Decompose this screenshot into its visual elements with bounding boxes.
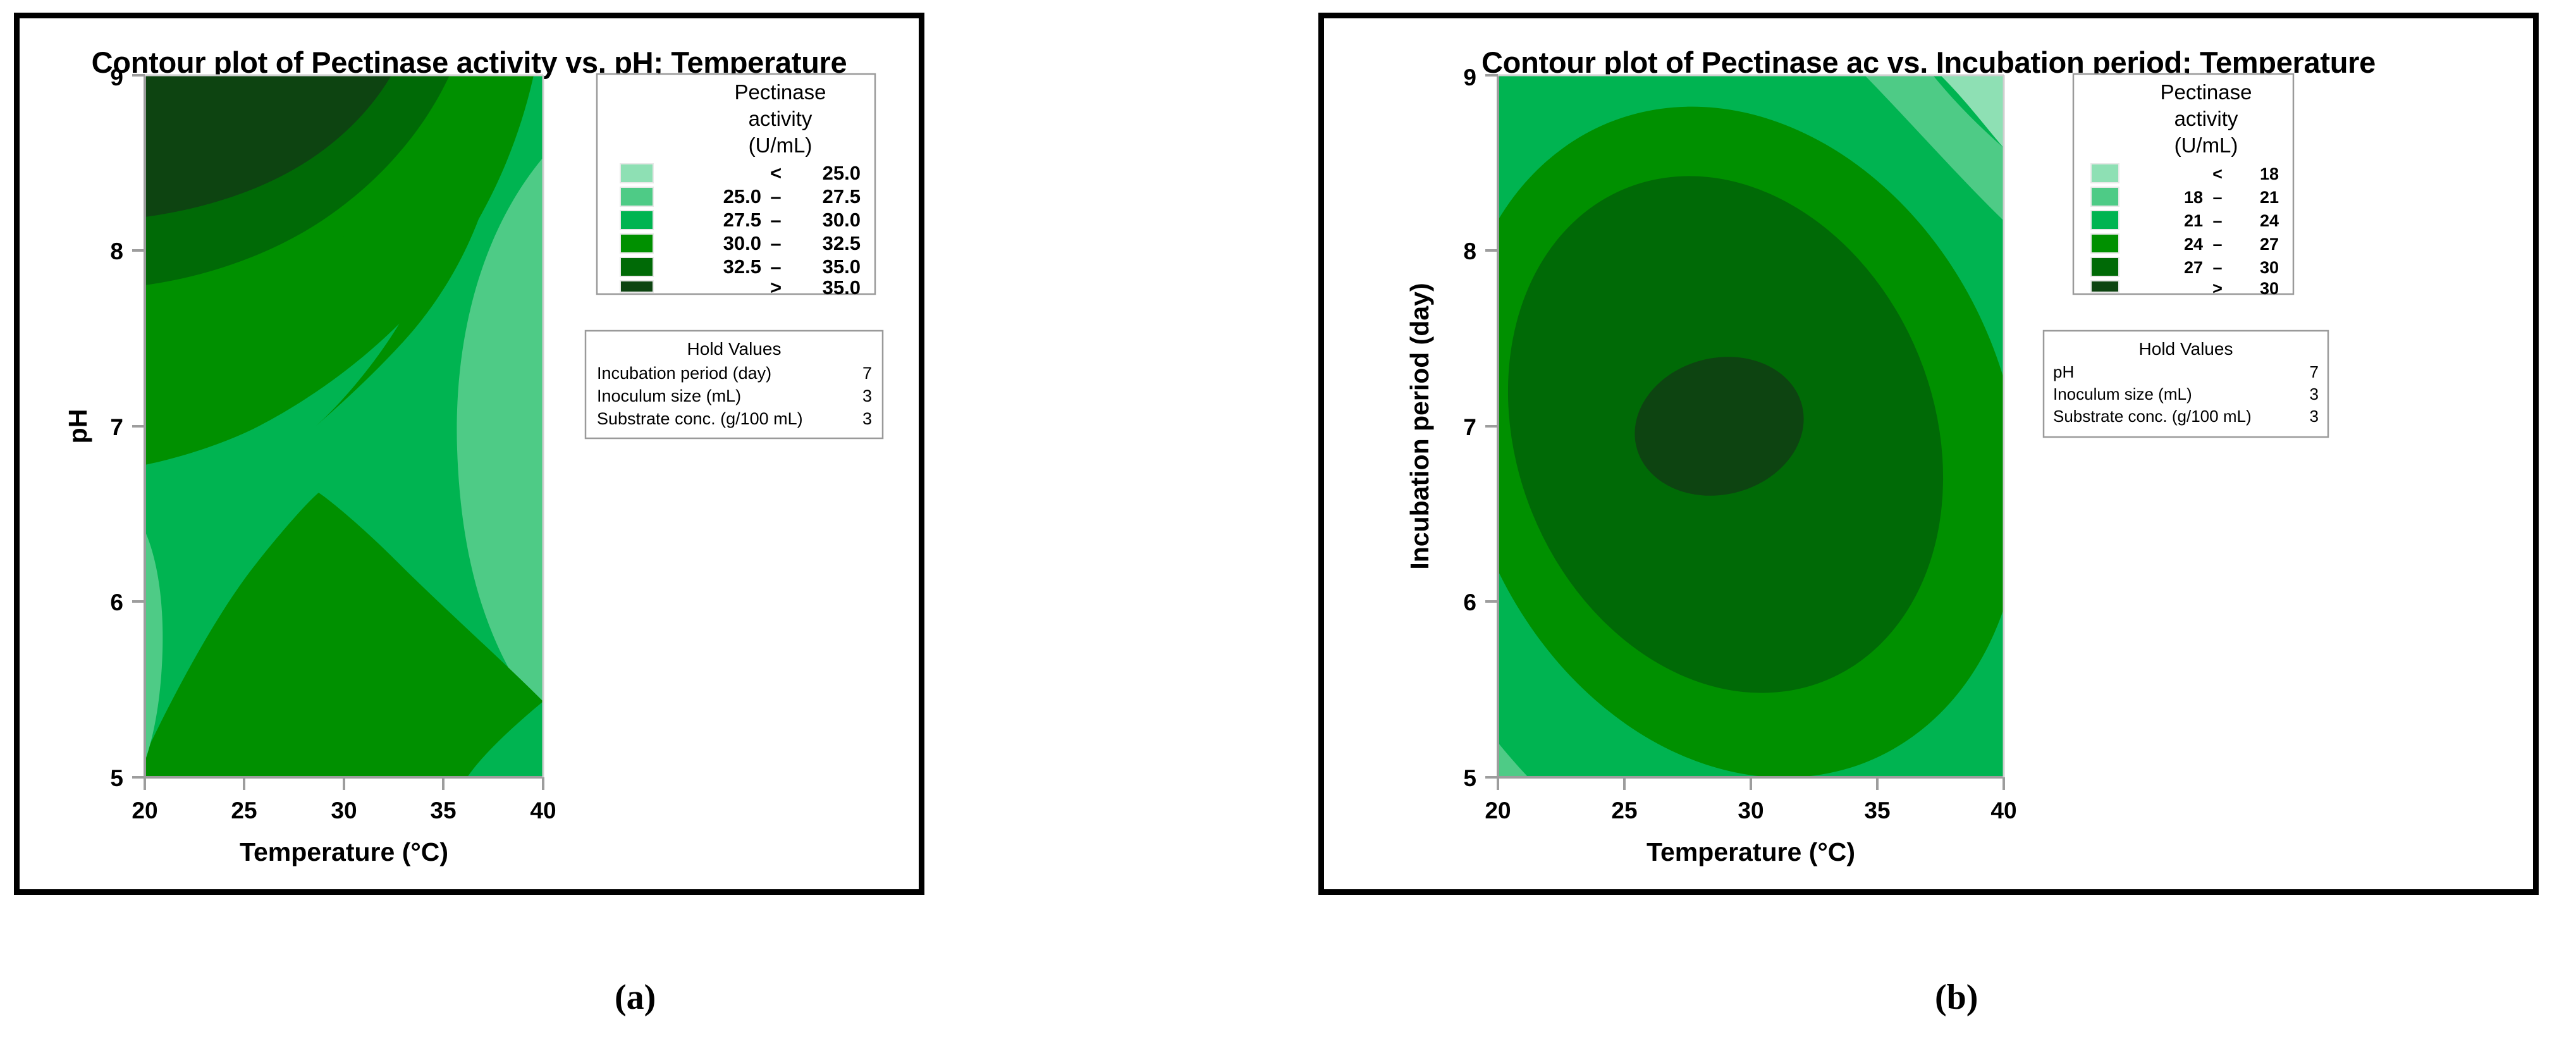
caption-a: (a) — [615, 977, 656, 1018]
hold-value-b-2: 3 — [2310, 407, 2319, 426]
panel-a-y-ticks: 5 6 7 8 9 — [110, 65, 145, 791]
legend-hi-a-4: 35.0 — [823, 256, 861, 278]
legend-lo-a-2: 27.5 — [723, 209, 761, 231]
panel-b-ytick-0: 5 — [1463, 765, 1476, 791]
panel-a-legend-title-1: activity — [749, 107, 813, 130]
legend-swatch-a-5 — [620, 281, 653, 292]
legend-hi-b-1: 21 — [2260, 188, 2279, 207]
legend-hi-a-1: 27.5 — [823, 185, 861, 207]
legend-hi-b-5: 30 — [2260, 279, 2279, 298]
panel-b-xtick-0: 20 — [1485, 798, 1511, 823]
legend-dash-a-0: < — [770, 162, 782, 184]
hold-value-a-1: 3 — [862, 386, 872, 405]
legend-swatch-b-5 — [2091, 281, 2119, 292]
hold-label-a-2: Substrate conc. (g/100 mL) — [597, 409, 803, 428]
legend-lo-b-2: 21 — [2184, 211, 2203, 230]
panel-a-contour-svg: 20 25 30 35 40 5 6 7 8 9 — [63, 63, 872, 853]
panel-a-legend: Pectinase activity (U/mL) < 25.0 25.0 – … — [597, 74, 875, 299]
hold-value-a-2: 3 — [862, 409, 872, 428]
panel-b-xtick-3: 35 — [1864, 798, 1890, 823]
hold-label-b-0: pH — [2053, 362, 2074, 381]
panel-b-plot-area: 20 25 30 35 40 5 6 7 8 9 — [1384, 63, 2503, 853]
panel-a-xtick-4: 40 — [530, 798, 556, 823]
legend-swatch-b-2 — [2091, 211, 2119, 230]
legend-lo-a-4: 32.5 — [723, 256, 761, 278]
panel-b-legend-title-1: activity — [2174, 107, 2238, 130]
legend-dash-a-3: – — [770, 232, 781, 254]
legend-swatch-a-2 — [620, 211, 653, 230]
legend-hi-a-2: 30.0 — [823, 209, 861, 231]
panel-b-ytick-1: 6 — [1463, 589, 1476, 615]
panel-b-ytick-2: 7 — [1463, 414, 1476, 440]
legend-swatch-b-3 — [2091, 234, 2119, 253]
legend-dash-b-0: < — [2212, 164, 2223, 183]
legend-lo-b-4: 27 — [2184, 258, 2203, 277]
legend-swatch-b-4 — [2091, 257, 2119, 276]
legend-lo-a-1: 25.0 — [723, 185, 761, 207]
panel-a-ytick-0: 5 — [110, 765, 123, 791]
panel-a-legend-title-2: (U/mL) — [749, 133, 813, 157]
panel-a-xtick-1: 25 — [231, 798, 257, 823]
panel-a-xtick-3: 35 — [430, 798, 456, 823]
legend-hi-a-0: 25.0 — [823, 162, 861, 184]
legend-swatch-b-0 — [2091, 164, 2119, 183]
hold-value-b-1: 3 — [2310, 385, 2319, 404]
legend-hi-a-5: 35.0 — [823, 276, 861, 299]
contour-figure: Contour plot of Pectinase activity vs. p… — [0, 0, 2576, 1060]
legend-lo-b-3: 24 — [2184, 235, 2203, 254]
panel-a-x-axis-label: Temperature (°C) — [240, 837, 448, 866]
panel-a-y-axis-label: pH — [63, 409, 92, 444]
panel-b-contour-bands — [1357, 21, 2119, 864]
panel-a-contour-bands — [145, 75, 543, 777]
legend-hi-b-0: 18 — [2260, 164, 2279, 183]
legend-lo-a-3: 30.0 — [723, 232, 761, 254]
panel-a-plot-area: 20 25 30 35 40 5 6 7 8 9 — [63, 63, 872, 853]
legend-hi-b-2: 24 — [2260, 211, 2279, 230]
hold-header-b: Hold Values — [2139, 339, 2233, 359]
panel-a: Contour plot of Pectinase activity vs. p… — [14, 13, 924, 895]
panel-b-xtick-2: 30 — [1738, 798, 1763, 823]
panel-b-x-ticks: 20 25 30 35 40 — [1485, 777, 2016, 823]
panel-a-ytick-2: 7 — [110, 414, 123, 440]
panel-b-legend: Pectinase activity (U/mL) < 18 18 – 21 — [2073, 74, 2293, 298]
hold-value-a-0: 7 — [862, 364, 872, 383]
panel-a-xtick-0: 20 — [132, 798, 157, 823]
panel-a-hold-values: Hold Values Incubation period (day) 7 In… — [586, 331, 883, 438]
legend-dash-a-1: – — [770, 185, 781, 207]
panel-b-contour-svg: 20 25 30 35 40 5 6 7 8 9 — [1384, 63, 2503, 853]
panel-a-ytick-1: 6 — [110, 589, 123, 615]
panel-b-xtick-4: 40 — [1990, 798, 2016, 823]
caption-b: (b) — [1935, 977, 1978, 1018]
panel-b-x-axis-label: Temperature (°C) — [1647, 837, 1855, 866]
panel-a-ytick-3: 8 — [110, 238, 123, 264]
legend-swatch-a-3 — [620, 234, 653, 253]
legend-dash-a-2: – — [770, 209, 781, 231]
legend-dash-b-4: – — [2212, 258, 2222, 277]
panel-a-xtick-2: 30 — [331, 798, 357, 823]
panel-a-ytick-4: 9 — [110, 65, 123, 90]
legend-swatch-a-0 — [620, 164, 653, 183]
panel-b: Contour plot of Pectinase ac vs. Incubat… — [1318, 13, 2539, 895]
panel-b-ytick-4: 9 — [1463, 65, 1476, 90]
panel-b-y-ticks: 5 6 7 8 9 — [1463, 65, 1498, 791]
panel-a-x-ticks: 20 25 30 35 40 — [132, 777, 556, 823]
panel-b-legend-title-2: (U/mL) — [2174, 133, 2238, 157]
legend-hi-a-3: 32.5 — [823, 232, 861, 254]
panel-b-ytick-3: 8 — [1463, 238, 1476, 264]
panel-b-y-axis-label: Incubation period (day) — [1405, 283, 1434, 569]
legend-swatch-a-4 — [620, 257, 653, 276]
panel-b-hold-values: Hold Values pH 7 Inoculum size (mL) 3 Su… — [2044, 331, 2328, 437]
legend-dash-b-3: – — [2212, 235, 2222, 254]
legend-dash-a-5: > — [770, 276, 782, 299]
panel-b-xtick-1: 25 — [1611, 798, 1637, 823]
legend-lo-b-1: 18 — [2184, 188, 2203, 207]
legend-hi-b-3: 27 — [2260, 235, 2279, 254]
legend-hi-b-4: 30 — [2260, 258, 2279, 277]
hold-header-a: Hold Values — [687, 339, 782, 359]
legend-dash-b-5: > — [2212, 279, 2223, 298]
legend-swatch-b-1 — [2091, 187, 2119, 206]
hold-label-b-1: Inoculum size (mL) — [2053, 385, 2192, 404]
legend-dash-a-4: – — [770, 256, 781, 278]
legend-dash-b-1: – — [2212, 188, 2222, 207]
legend-dash-b-2: – — [2212, 211, 2222, 230]
hold-value-b-0: 7 — [2310, 362, 2319, 381]
panel-b-legend-title-0: Pectinase — [2161, 80, 2252, 104]
legend-swatch-a-1 — [620, 187, 653, 206]
hold-label-a-0: Incubation period (day) — [597, 364, 771, 383]
hold-label-a-1: Inoculum size (mL) — [597, 386, 741, 405]
panel-a-legend-title-0: Pectinase — [735, 80, 826, 104]
hold-label-b-2: Substrate conc. (g/100 mL) — [2053, 407, 2252, 426]
